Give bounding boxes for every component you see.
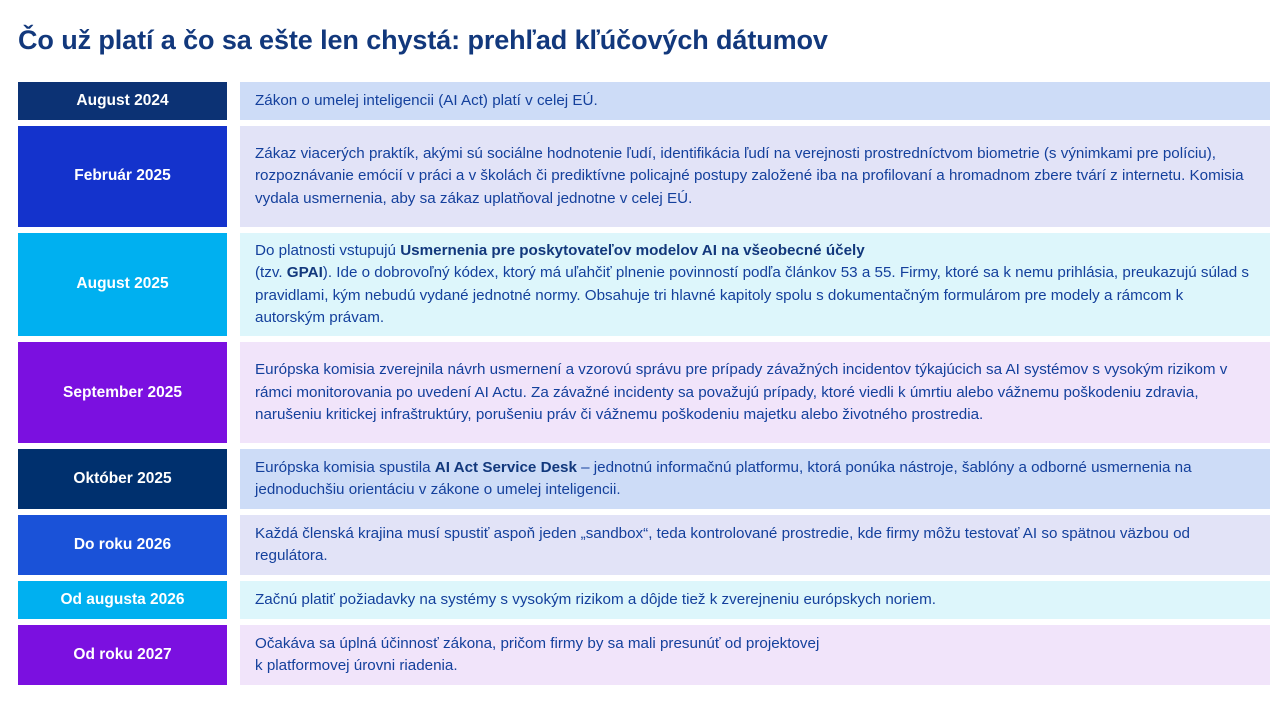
body-text: Zákon o umelej inteligencii (AI Act) pla… [255, 92, 598, 109]
timeline-description-panel: Európska komisia zverejnila návrh usmern… [240, 342, 1270, 443]
body-text: (tzv. [255, 264, 287, 281]
timeline-description-panel: Očakáva sa úplná účinnosť zákona, pričom… [240, 625, 1270, 685]
timeline-date-badge: Február 2025 [18, 126, 227, 227]
slide-root: Čo už platí a čo sa ešte len chystá: pre… [0, 0, 1280, 720]
body-text: Zákaz viacerých praktík, akými sú sociál… [255, 145, 1244, 207]
timeline-row: September 2025Európska komisia zverejnil… [18, 342, 1270, 443]
timeline-row: August 2025Do platnosti vstupujú Usmerne… [18, 233, 1270, 336]
timeline-description-text: Zákon o umelej inteligencii (AI Act) pla… [255, 90, 1256, 112]
timeline-row: Do roku 2026Každá členská krajina musí s… [18, 515, 1270, 575]
timeline-description-panel: Zákaz viacerých praktík, akými sú sociál… [240, 126, 1270, 227]
body-text: Začnú platiť požiadavky na systémy s vys… [255, 591, 936, 608]
timeline-date-badge: Od roku 2027 [18, 625, 227, 685]
body-text: Európska komisia zverejnila návrh usmern… [255, 361, 1227, 423]
body-text: k platformovej úrovni riadenia. [255, 657, 458, 674]
timeline-row: Od augusta 2026Začnú platiť požiadavky n… [18, 581, 1270, 619]
body-text: Do platnosti vstupujú [255, 242, 400, 259]
timeline-description-text: Zákaz viacerých praktík, akými sú sociál… [255, 143, 1256, 210]
timeline-row: Február 2025Zákaz viacerých praktík, aký… [18, 126, 1270, 227]
timeline-date-badge: Október 2025 [18, 449, 227, 509]
body-text: Európska komisia spustila [255, 459, 435, 476]
page-title: Čo už platí a čo sa ešte len chystá: pre… [18, 25, 1258, 56]
timeline-description-panel: Do platnosti vstupujú Usmernenia pre pos… [240, 233, 1270, 336]
timeline-description-text: Každá členská krajina musí spustiť aspoň… [255, 523, 1256, 568]
timeline-date-badge: Od augusta 2026 [18, 581, 227, 619]
body-text: Očakáva sa úplná účinnosť zákona, pričom… [255, 635, 819, 652]
timeline-description-panel: Európska komisia spustila AI Act Service… [240, 449, 1270, 509]
emphasis-text: GPAI [287, 264, 323, 281]
timeline-description-text: Očakáva sa úplná účinnosť zákona, pričom… [255, 633, 1256, 678]
timeline-date-badge: September 2025 [18, 342, 227, 443]
emphasis-text: AI Act Service Desk [435, 459, 577, 476]
timeline-description-panel: Začnú platiť požiadavky na systémy s vys… [240, 581, 1270, 619]
body-text: Každá členská krajina musí spustiť aspoň… [255, 525, 1190, 564]
timeline-description-text: Začnú platiť požiadavky na systémy s vys… [255, 589, 1256, 611]
timeline-row: August 2024Zákon o umelej inteligencii (… [18, 82, 1270, 120]
timeline-row: Október 2025Európska komisia spustila AI… [18, 449, 1270, 509]
timeline-table: August 2024Zákon o umelej inteligencii (… [18, 82, 1270, 691]
timeline-description-panel: Každá členská krajina musí spustiť aspoň… [240, 515, 1270, 575]
timeline-description-text: Do platnosti vstupujú Usmernenia pre pos… [255, 240, 1256, 329]
timeline-row: Od roku 2027Očakáva sa úplná účinnosť zá… [18, 625, 1270, 685]
emphasis-text: Usmernenia pre poskytovateľov modelov AI… [400, 242, 864, 259]
body-text: ). Ide o dobrovoľný kódex, ktorý má uľah… [255, 264, 1249, 326]
timeline-description-text: Európska komisia spustila AI Act Service… [255, 457, 1256, 502]
timeline-description-text: Európska komisia zverejnila návrh usmern… [255, 359, 1256, 426]
timeline-date-badge: August 2025 [18, 233, 227, 336]
timeline-date-badge: Do roku 2026 [18, 515, 227, 575]
timeline-date-badge: August 2024 [18, 82, 227, 120]
timeline-description-panel: Zákon o umelej inteligencii (AI Act) pla… [240, 82, 1270, 120]
